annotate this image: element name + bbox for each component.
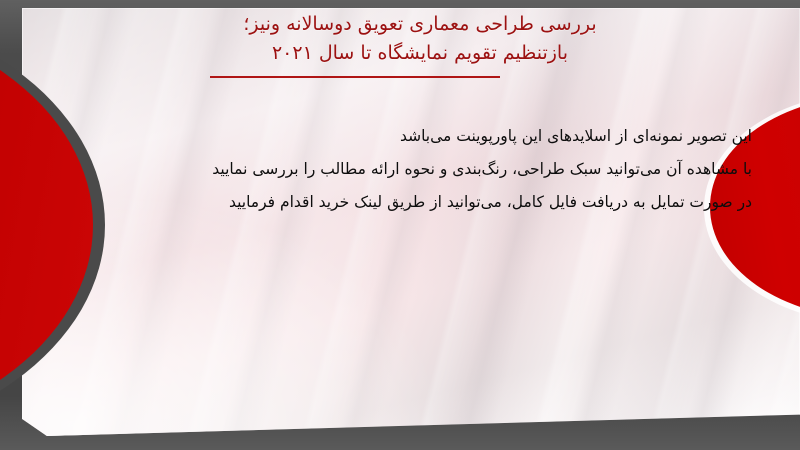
- body-text-line-3: در صورت تمایل به دریافت فایل کامل، می‌تو…: [52, 186, 752, 219]
- body-text-line-1: این تصویر نمونه‌ای از اسلایدهای این پاور…: [52, 120, 752, 153]
- slide-title-line-1: بررسی طراحی معماری تعویق دوسالانه ونیز؛: [100, 10, 740, 39]
- presentation-slide: بررسی طراحی معماری تعویق دوسالانه ونیز؛ …: [0, 0, 800, 450]
- slide-title-line-2: بازتنظیم تقویم نمایشگاه تا سال ۲۰۲۱: [100, 39, 740, 68]
- background-swirl-pattern: [22, 8, 800, 436]
- slide-content-panel: [22, 8, 800, 436]
- slide-body-text: این تصویر نمونه‌ای از اسلایدهای این پاور…: [52, 120, 752, 219]
- slide-title: بررسی طراحی معماری تعویق دوسالانه ونیز؛ …: [100, 10, 740, 68]
- title-underline-rule: [210, 76, 500, 78]
- body-text-line-2: با مشاهده آن می‌توانید سبک طراحی، رنگ‌بن…: [52, 153, 752, 186]
